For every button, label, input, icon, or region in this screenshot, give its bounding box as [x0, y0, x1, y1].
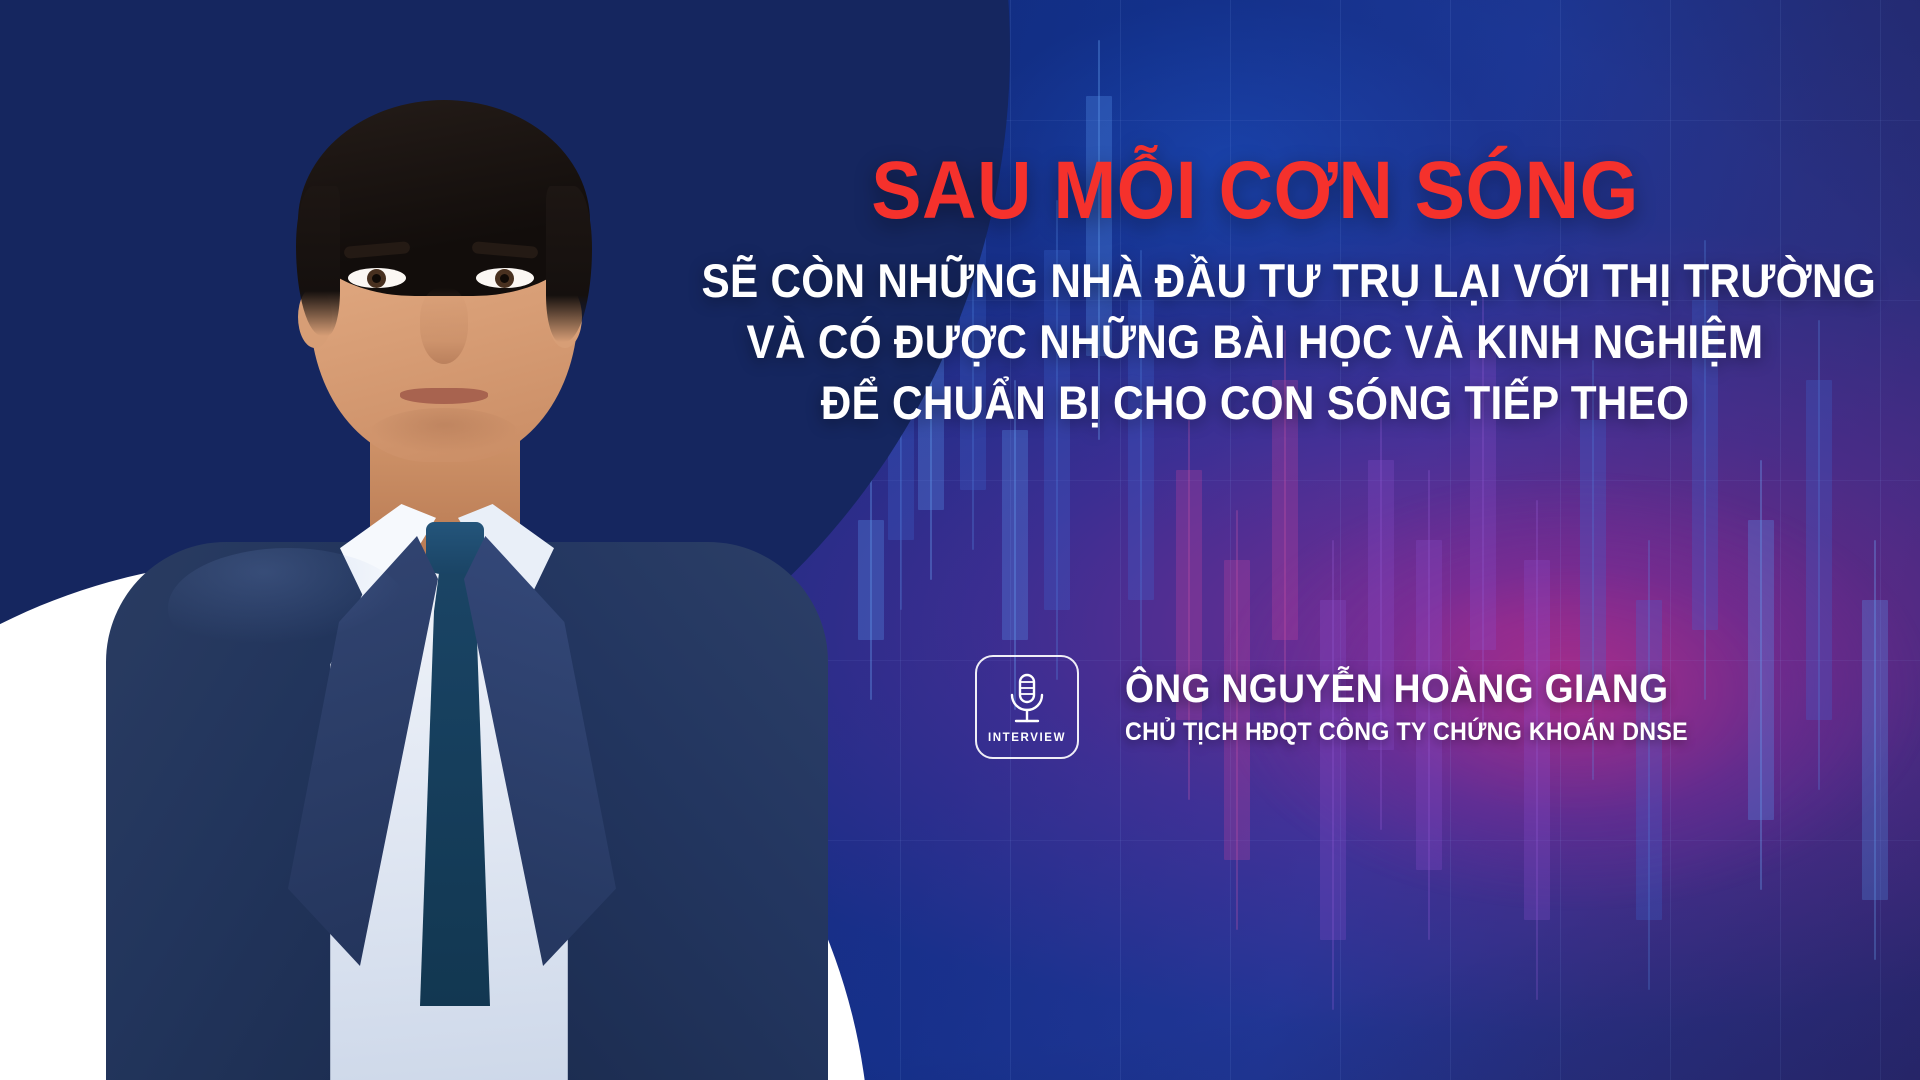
microphone-icon — [1004, 671, 1050, 729]
eye-left — [348, 268, 406, 288]
person-name: ÔNG NGUYỄN HOÀNG GIANG — [1125, 667, 1688, 712]
headline: SAU MỖI CƠN SÓNG — [689, 150, 1821, 232]
person-info: ÔNG NGUYỄN HOÀNG GIANG CHỦ TỊCH HĐQT CÔN… — [1125, 667, 1730, 748]
subline-3: ĐỂ CHUẨN BỊ CHO CON SÓNG TIẾP THEO — [702, 372, 1809, 433]
person-role: CHỦ TỊCH HĐQT CÔNG TY CHỨNG KHOÁN DNSE — [1125, 717, 1688, 747]
interview-badge: INTERVIEW — [975, 655, 1079, 759]
hair-side-right — [546, 186, 592, 342]
interview-banner: SAU MỖI CƠN SÓNG SẼ CÒN NHỮNG NHÀ ĐẦU TƯ… — [0, 0, 1920, 1080]
pupil-right — [500, 274, 509, 283]
shoulder-highlight — [168, 548, 408, 668]
headline-block: SAU MỖI CƠN SÓNG SẼ CÒN NHỮNG NHÀ ĐẦU TƯ… — [640, 150, 1870, 433]
subline-2: VÀ CÓ ĐƯỢC NHỮNG BÀI HỌC VÀ KINH NGHIỆM — [702, 311, 1809, 372]
chin-shadow — [368, 408, 520, 464]
eye-right — [476, 268, 534, 288]
pupil-left — [372, 274, 381, 283]
nose — [420, 288, 468, 364]
attribution-block: INTERVIEW ÔNG NGUYỄN HOÀNG GIANG CHỦ TỊC… — [975, 655, 1730, 759]
interview-badge-label: INTERVIEW — [988, 732, 1066, 744]
mouth — [400, 388, 488, 404]
subline-1: SẼ CÒN NHỮNG NHÀ ĐẦU TƯ TRỤ LẠI VỚI THỊ … — [702, 250, 1809, 311]
